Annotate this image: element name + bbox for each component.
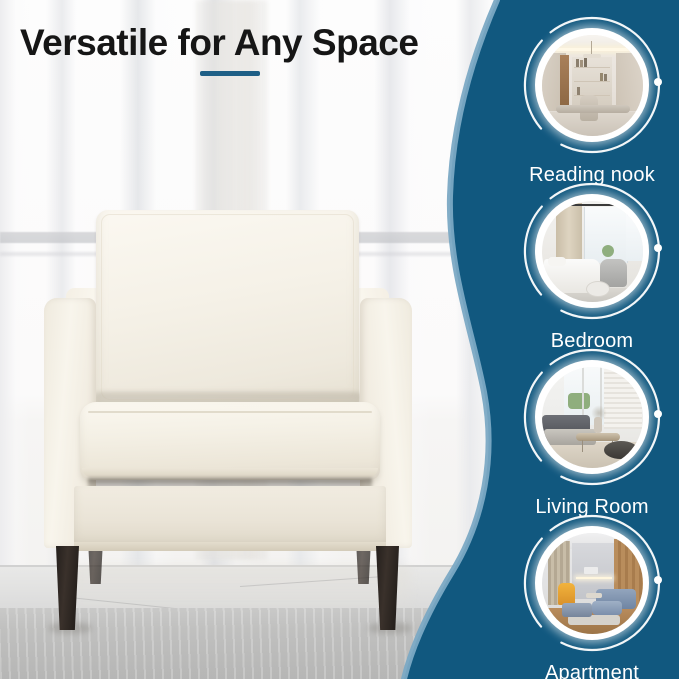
card-photo <box>542 367 643 468</box>
scene-reading-nook <box>542 35 643 136</box>
apartment-ottoman <box>562 603 592 617</box>
nook-ceiling <box>542 35 643 55</box>
photo-ring <box>535 526 649 640</box>
bedroom-curtain-rod <box>550 204 638 207</box>
nook-wood-panel <box>560 55 569 109</box>
apartment-loveseat <box>592 601 622 615</box>
card-apartment[interactable]: Apartment <box>519 510 665 656</box>
photo-ring <box>535 360 649 474</box>
nook-shelf <box>574 67 610 69</box>
bedroom-side-table <box>586 281 610 297</box>
card-living-room[interactable]: Living Room <box>519 344 665 490</box>
living-vase <box>594 417 602 433</box>
card-reading-nook[interactable]: Reading nook <box>519 12 665 158</box>
apartment-light-strip <box>576 577 612 579</box>
scene-apartment <box>542 533 643 634</box>
nook-book <box>604 74 607 81</box>
title-underline-accent <box>200 71 260 76</box>
nook-book <box>580 60 583 67</box>
nook-book <box>576 59 579 67</box>
bedroom-pillow <box>548 257 566 266</box>
nook-shelf <box>574 81 610 83</box>
living-blinds <box>604 369 642 429</box>
living-window-greenery <box>568 393 590 409</box>
photo-ring <box>535 28 649 142</box>
nook-cabinet-right <box>616 53 643 111</box>
card-bedroom[interactable]: Bedroom <box>519 178 665 324</box>
bedroom-window-side <box>626 209 643 261</box>
nook-book <box>584 58 587 67</box>
nook-book <box>600 73 603 81</box>
photo-ring <box>535 194 649 308</box>
living-ottoman <box>604 441 638 459</box>
apartment-yellow-armchair <box>558 583 575 605</box>
card-photo <box>542 533 643 634</box>
card-label: Apartment <box>492 662 679 679</box>
nook-desk <box>556 105 630 113</box>
bedroom-plant <box>602 245 614 257</box>
scene-bedroom <box>542 201 643 302</box>
nook-pendant-shade <box>583 54 601 58</box>
marketing-infographic: Versatile for Any Space <box>0 0 679 679</box>
nook-book <box>577 87 580 95</box>
apartment-coffee-table <box>586 593 602 598</box>
nook-pendant-cord <box>591 41 593 55</box>
page-title: Versatile for Any Space <box>20 24 418 61</box>
card-photo <box>542 201 643 302</box>
scene-living-room <box>542 367 643 468</box>
card-photo <box>542 35 643 136</box>
apartment-tv <box>584 567 598 574</box>
living-table-leg <box>582 440 584 452</box>
nook-cove-light <box>556 48 630 51</box>
